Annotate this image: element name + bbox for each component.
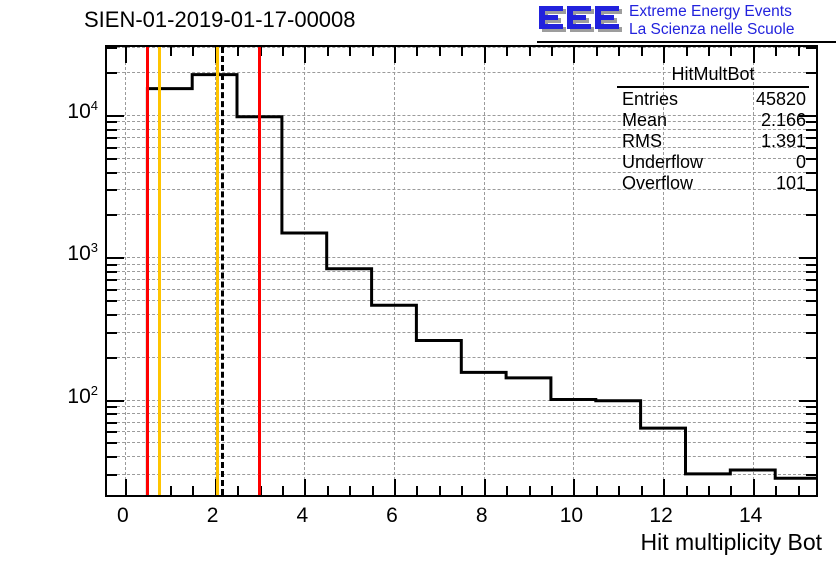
stats-row-key: Entries bbox=[622, 89, 678, 110]
marker-line-orange-left bbox=[158, 47, 161, 495]
stats-row-value: 101 bbox=[776, 173, 806, 194]
y-axis-label: 103 bbox=[40, 240, 98, 266]
y-axis-label-base: 10 bbox=[67, 242, 90, 265]
stats-box: HitMultBot Entries45820Mean2.166RMS1.391… bbox=[612, 63, 814, 196]
stats-title: HitMultBot bbox=[617, 64, 809, 88]
stats-row-value: 0 bbox=[796, 152, 806, 173]
x-axis-label: 10 bbox=[541, 504, 601, 528]
stats-row-value: 2.166 bbox=[761, 110, 806, 131]
y-axis-label-base: 10 bbox=[67, 100, 90, 123]
eee-logo-line1: Extreme Energy Events bbox=[629, 3, 794, 21]
stats-row-key: Overflow bbox=[622, 173, 693, 194]
stats-row: Mean2.166 bbox=[612, 110, 814, 131]
x-axis-label: 6 bbox=[362, 504, 422, 528]
x-axis-label: 2 bbox=[183, 504, 243, 528]
x-axis-label: 0 bbox=[93, 504, 153, 528]
y-axis-label-base: 10 bbox=[67, 385, 90, 408]
stats-row-key: RMS bbox=[622, 131, 662, 152]
header-rule bbox=[537, 41, 836, 43]
marker-line-black-dashed-mean bbox=[221, 47, 224, 495]
stats-row: RMS1.391 bbox=[612, 131, 814, 152]
y-axis-label: 104 bbox=[40, 98, 98, 124]
eee-logo-mark bbox=[537, 4, 625, 37]
stats-row: Underflow0 bbox=[612, 152, 814, 173]
x-axis-title: Hit multiplicity Bot bbox=[641, 529, 822, 556]
stats-row-key: Underflow bbox=[622, 152, 703, 173]
y-axis-label-exponent: 3 bbox=[91, 240, 98, 255]
stats-row-key: Mean bbox=[622, 110, 667, 131]
x-axis-label: 12 bbox=[631, 504, 691, 528]
marker-line-red-right bbox=[258, 47, 261, 495]
page-title: SIEN-01-2019-01-17-00008 bbox=[84, 7, 356, 33]
eee-logo: Extreme Energy Events La Scienza nelle S… bbox=[537, 3, 833, 41]
y-axis-label-exponent: 2 bbox=[91, 383, 98, 398]
marker-line-orange-mean bbox=[216, 47, 219, 495]
stats-row: Overflow101 bbox=[612, 173, 814, 194]
stats-row-value: 45820 bbox=[756, 89, 806, 110]
stats-row: Entries45820 bbox=[612, 89, 814, 110]
x-axis-label: 4 bbox=[272, 504, 332, 528]
marker-line-red-left bbox=[146, 47, 149, 495]
stats-rows: Entries45820Mean2.166RMS1.391Underflow0O… bbox=[612, 89, 814, 194]
eee-logo-text: Extreme Energy Events La Scienza nelle S… bbox=[629, 3, 794, 39]
y-axis-label-exponent: 4 bbox=[91, 98, 98, 113]
y-axis-label: 102 bbox=[40, 383, 98, 409]
x-axis-label: 8 bbox=[452, 504, 512, 528]
chart-canvas: SIEN-01-2019-01-17-00008 bbox=[0, 0, 836, 572]
x-axis-label: 14 bbox=[721, 504, 781, 528]
stats-row-value: 1.391 bbox=[761, 131, 806, 152]
eee-logo-line2: La Scienza nelle Scuole bbox=[629, 21, 794, 39]
